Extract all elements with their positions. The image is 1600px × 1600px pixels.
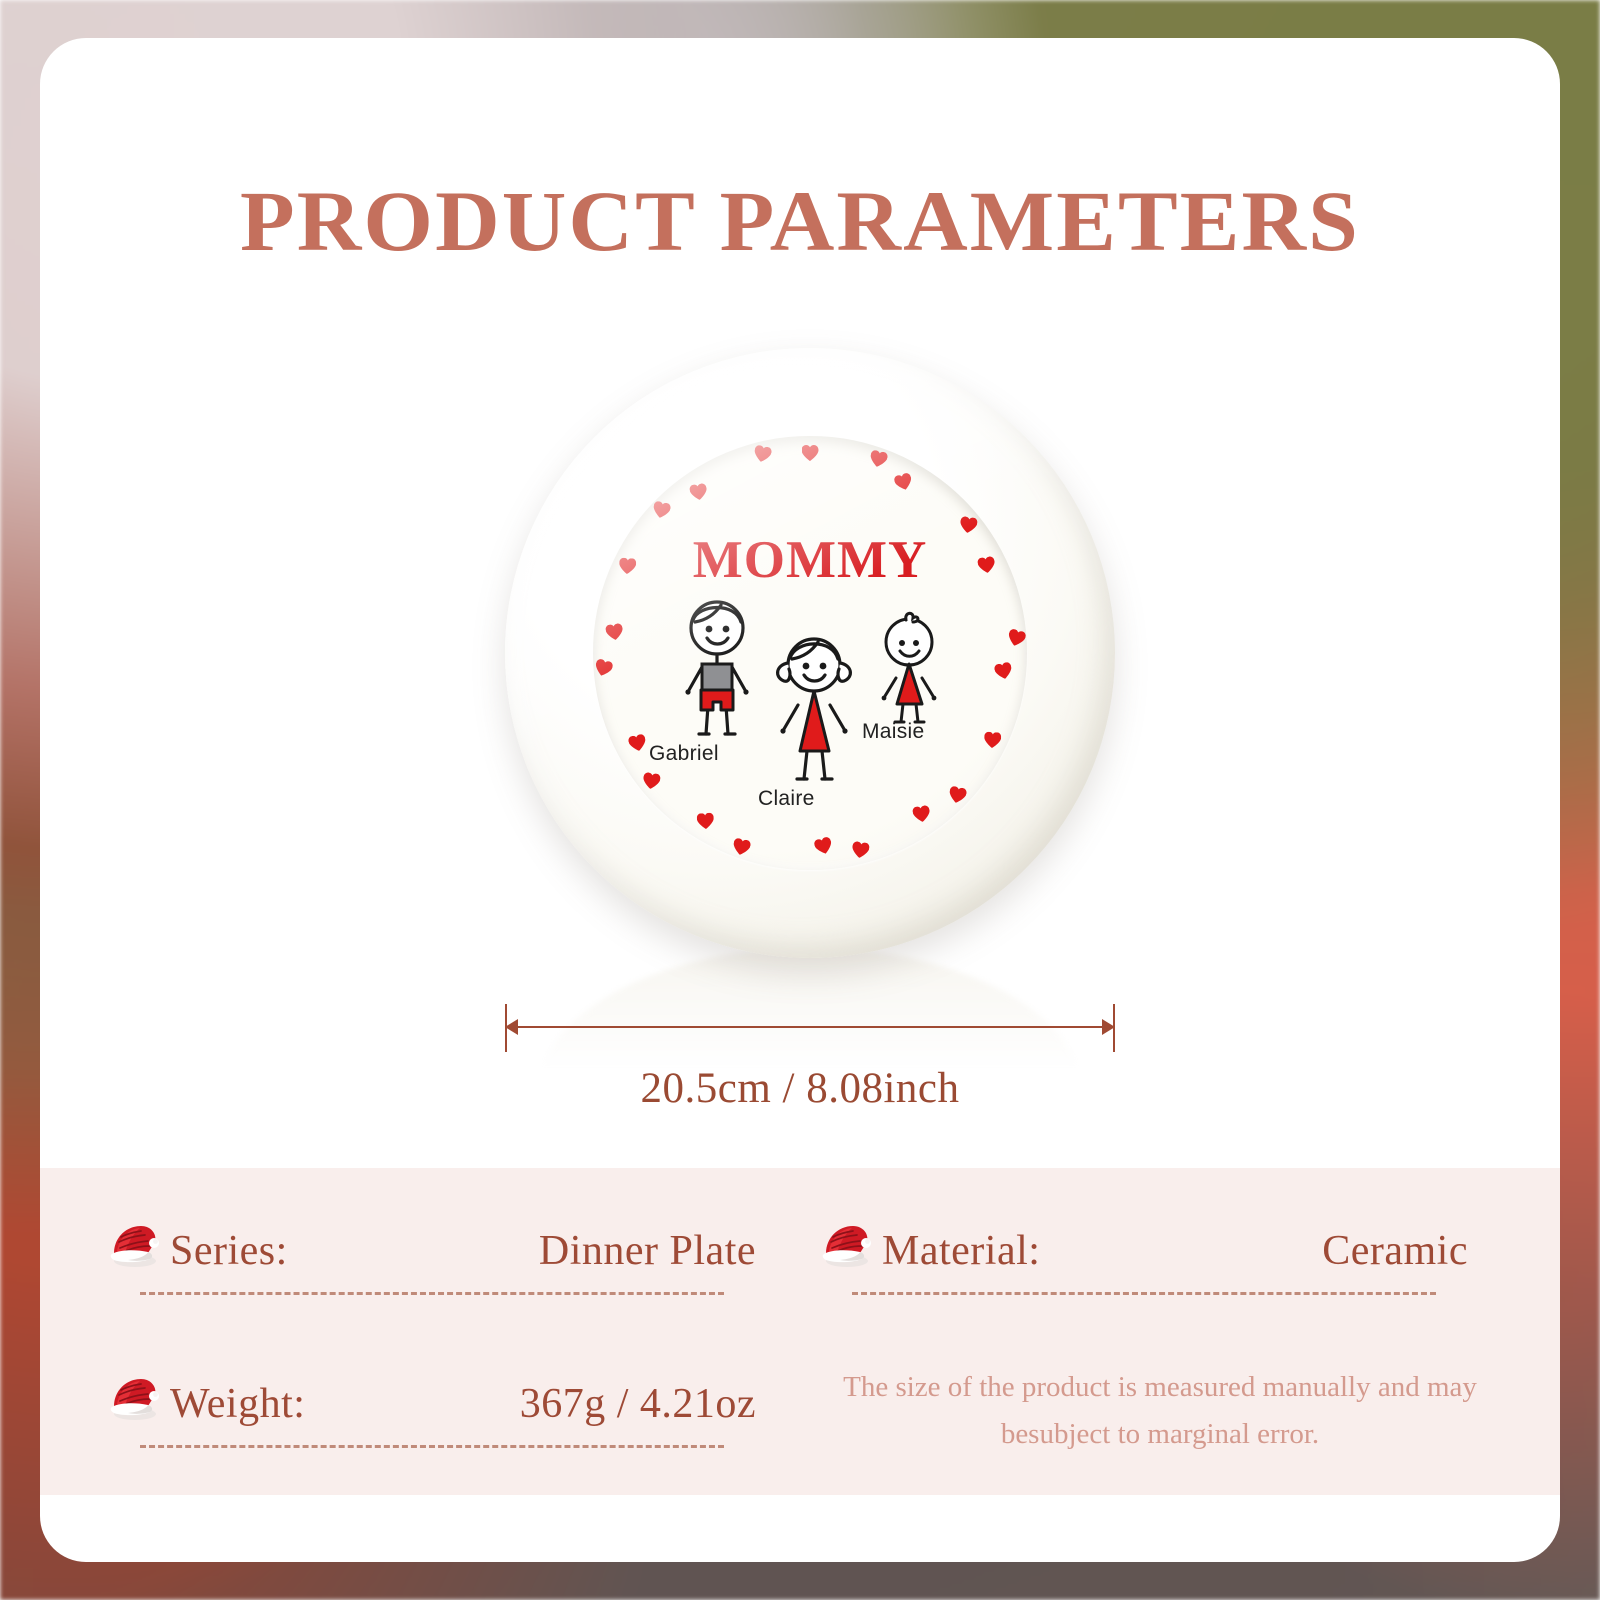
product-image-stage: MOMMY (40, 338, 1560, 1038)
heart-icon (593, 658, 614, 678)
stick-figure-maisie: Maisie (868, 610, 950, 737)
arrow-head-left (505, 1019, 518, 1035)
santa-hat-icon (108, 1373, 162, 1421)
heart-icon (627, 734, 647, 753)
heart-icon (802, 445, 819, 461)
spec-divider-series (140, 1292, 724, 1295)
heart-icon (732, 838, 752, 857)
spec-row-series: Series: Dinner Plate (108, 1220, 756, 1272)
heart-icon (912, 805, 931, 823)
stick-figure-claire: Claire (760, 633, 868, 798)
product-parameters-card: PRODUCT PARAMETERS MOMMY (40, 38, 1560, 1562)
heart-icon (689, 483, 708, 501)
measurement-disclaimer: The size of the product is measured manu… (840, 1364, 1480, 1458)
dimension-annotation: 20.5cm / 8.08inch (40, 1000, 1560, 1130)
specifications-panel: Series: Dinner Plate (40, 1168, 1560, 1495)
arrow-head-right (1102, 1019, 1115, 1035)
spec-row-material: Material: Ceramic (820, 1220, 1468, 1272)
heart-icon (1006, 628, 1027, 648)
plate-engraved-title: MOMMY (505, 530, 1115, 590)
heart-icon (652, 501, 672, 520)
heart-icon (851, 841, 870, 859)
spec-divider-material (852, 1292, 1436, 1295)
spec-divider-weight (140, 1445, 724, 1448)
heart-icon (813, 835, 834, 855)
spec-label-weight: Weight: (170, 1383, 305, 1425)
dimension-label: 20.5cm / 8.08inch (40, 1064, 1560, 1113)
heart-icon (697, 813, 715, 830)
page-title: PRODUCT PARAMETERS (40, 171, 1560, 271)
heart-icon (868, 449, 888, 468)
santa-hat-icon (820, 1220, 874, 1268)
heart-icon (605, 623, 624, 641)
dimension-arrow-line (505, 1026, 1115, 1028)
spec-label-series: Series: (170, 1230, 288, 1272)
heart-icon (993, 661, 1013, 680)
spec-row-weight: Weight: 367g / 4.21oz (108, 1373, 756, 1425)
santa-hat-icon (108, 1220, 162, 1268)
heart-icon (753, 444, 773, 463)
heart-icon (642, 772, 661, 790)
spec-value-weight: 367g / 4.21oz (520, 1383, 756, 1425)
figure-name-gabriel: Gabriel (649, 742, 719, 766)
heart-icon (983, 732, 1001, 749)
figure-name-claire: Claire (758, 787, 815, 811)
dinner-plate-image: MOMMY (505, 348, 1115, 958)
heart-icon (948, 786, 968, 805)
heart-icon (893, 472, 914, 492)
spec-value-material: Ceramic (1322, 1230, 1468, 1272)
spec-label-material: Material: (882, 1230, 1040, 1272)
stick-figure-gabriel: Gabriel (665, 598, 769, 753)
figure-name-maisie: Maisie (862, 720, 924, 744)
spec-value-series: Dinner Plate (539, 1230, 756, 1272)
